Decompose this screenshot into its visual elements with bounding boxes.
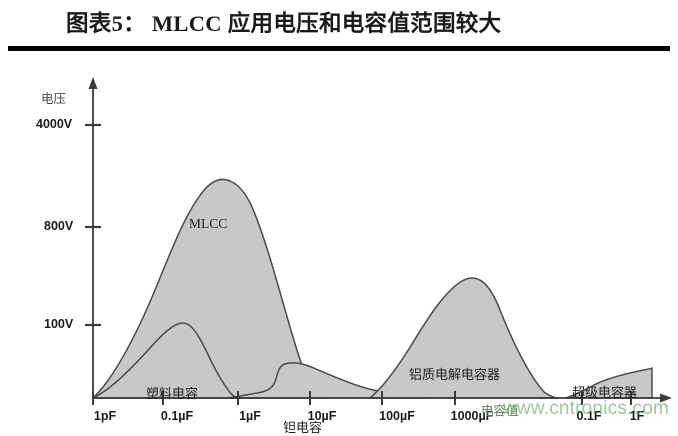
series-label-supercapacitor: 超级电容器 (572, 382, 637, 401)
x-axis-title: 电容值 (481, 400, 519, 419)
x-tick-label-1pf: 1pF (94, 409, 116, 423)
figure-header: 图表5： MLCC 应用电压和电容值范围较大 (0, 0, 678, 52)
x-tick-label-100uf: 100µF (379, 409, 415, 423)
title-divider (8, 46, 670, 51)
page-title: 图表5： MLCC 应用电压和电容值范围较大 (66, 6, 501, 38)
chart-plot-area (0, 52, 678, 433)
series-label-tantalum-capacitor: 钽电容 (283, 417, 322, 436)
y-axis-title: 电压 (41, 88, 66, 107)
x-tick-label-1uf: 1µF (239, 409, 261, 423)
y-tick-label-100v: 100V (44, 317, 73, 331)
series-label-plastic-capacitor: 塑料电容 (146, 383, 198, 402)
series-label-mlcc: MLCC (189, 216, 227, 232)
y-tick-label-4000v: 4000V (36, 117, 72, 131)
x-tick-label-0.1uf: 0.1µF (161, 409, 193, 423)
y-axis-arrowhead (89, 77, 98, 89)
y-tick-label-800v: 800V (44, 219, 73, 233)
capacitor-range-chart: 电压 4000V 800V 100V 1pF 0.1µF 1µF 10µF 10… (0, 52, 678, 433)
x-tick-label-1f: 1F (630, 409, 645, 423)
series-label-aluminum-electrolytic-capacitor: 铝质电解电容器 (409, 364, 500, 383)
x-axis-arrowhead (660, 394, 672, 403)
x-tick-label-0.1f: 0.1F (576, 409, 601, 423)
